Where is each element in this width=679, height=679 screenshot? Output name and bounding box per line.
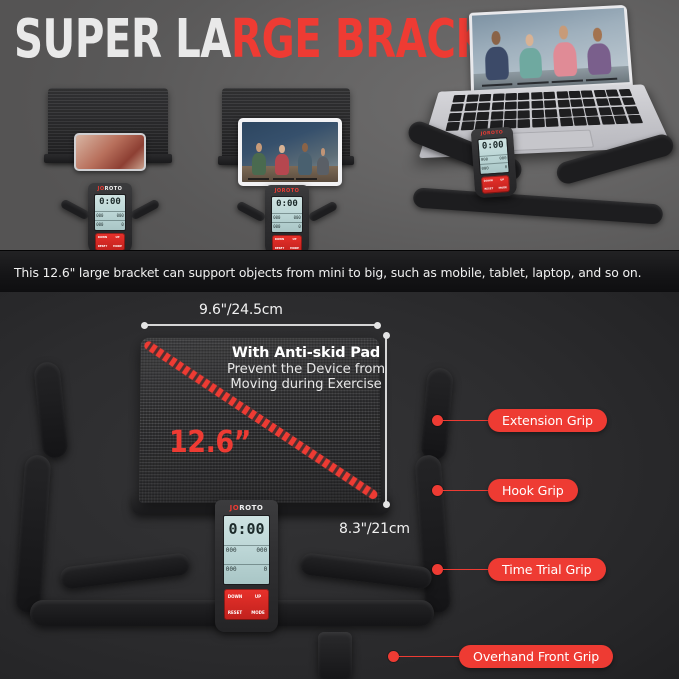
dimension-line-width xyxy=(145,324,377,326)
console-lcd: 0:00 000000 0000 xyxy=(94,194,126,231)
console-button-pad[interactable]: DOWN UP RESET MODE xyxy=(481,175,510,194)
callout-dot-icon xyxy=(432,564,443,575)
console-main: JOROTO 0:00 000000 0000 DOWN UP RESET MO… xyxy=(215,500,278,632)
callout-overhand-front-grip[interactable]: Overhand Front Grip xyxy=(388,645,613,668)
tablet-screen-content xyxy=(242,122,338,182)
btn-up[interactable]: UP xyxy=(287,238,302,241)
lcd-small-row1: 000000 xyxy=(96,213,124,218)
logo-jo-main: JO xyxy=(230,504,240,512)
callout-hook-grip[interactable]: Hook Grip xyxy=(432,479,578,502)
bike-stem xyxy=(318,632,352,679)
console-logo: JOROTO xyxy=(88,186,132,192)
lcd-main-value: 0:00 xyxy=(479,140,508,152)
pad-sub-line2: Moving during Exercise xyxy=(226,378,386,393)
panel-laptop: JOROTO 0:00 000000 0000 DOWN UP RESET MO… xyxy=(395,0,679,256)
callout-label-overhand-front-grip[interactable]: Overhand Front Grip xyxy=(459,645,613,668)
logo-jo: JO xyxy=(98,186,105,192)
device-phone xyxy=(74,133,146,171)
console-button-pad-main[interactable]: DOWN UP RESET MODE xyxy=(224,589,269,620)
lcd-small-row1: 000000 xyxy=(273,215,301,220)
console-tablet-panel: JOROTO 0:00 000000 0000 DOWN UP RESET MO… xyxy=(265,185,309,256)
console-laptop-panel: JOROTO 0:00 000000 0000 DOWN UP RESET MO… xyxy=(471,127,518,199)
handlebar-cross-laptop xyxy=(413,187,664,224)
console-phone-panel: JOROTO 0:00 000000 0000 DOWN UP RESET MO… xyxy=(88,183,132,254)
lcd-small-row1: 000000 xyxy=(226,547,267,554)
callout-connector-line xyxy=(399,656,459,658)
logo-text: JOROTO xyxy=(275,188,300,194)
console-button-pad[interactable]: DOWN UP RESET MODE xyxy=(95,233,125,251)
btn-down[interactable]: DOWN xyxy=(272,238,287,241)
pad-heading: With Anti-skid Pad xyxy=(226,345,386,361)
callout-dot-icon xyxy=(388,651,399,662)
dimension-label-width: 9.6"/24.5cm xyxy=(199,302,283,318)
console-logo: JOROTO xyxy=(471,130,513,138)
handlebar-left-tablet xyxy=(236,200,267,222)
handlebar-left-phone xyxy=(60,198,91,220)
console-logo-main: JOROTO xyxy=(215,504,278,512)
product-infographic: SUPER LARGE BRACKET JOROTO 0:00 000000 0… xyxy=(0,0,679,679)
lcd-main-value: 0:00 xyxy=(224,520,269,538)
handlebar-right-phone xyxy=(130,198,161,220)
console-lcd: 0:00 000000 0000 xyxy=(477,137,509,175)
callout-label-time-trial-grip[interactable]: Time Trial Grip xyxy=(488,558,606,581)
callout-connector-line xyxy=(443,420,488,422)
btn-up[interactable]: UP xyxy=(110,236,125,239)
callout-connector-line xyxy=(443,490,488,492)
laptop-keys xyxy=(446,89,643,131)
console-lcd: 0:00 000000 0000 xyxy=(271,196,303,233)
banner-text: This 12.6" large bracket can support obj… xyxy=(14,265,641,280)
console-lcd-main: 0:00 000000 0000 xyxy=(223,515,270,585)
laptop-screen-content xyxy=(472,8,630,90)
lcd-main-value: 0:00 xyxy=(95,197,125,207)
lcd-main-value: 0:00 xyxy=(272,199,302,209)
btn-up[interactable]: UP xyxy=(495,178,509,182)
laptop-screen xyxy=(469,5,633,97)
callout-connector-line xyxy=(443,569,488,571)
callout-time-trial-grip[interactable]: Time Trial Grip xyxy=(432,558,606,581)
btn-mode-main[interactable]: MODE xyxy=(247,610,269,615)
anti-skid-pad-text: With Anti-skid Pad Prevent the Device fr… xyxy=(226,345,386,393)
btn-mode[interactable]: MODE xyxy=(110,245,125,248)
laptop-trackpad xyxy=(502,130,595,152)
device-tablet xyxy=(238,118,342,186)
logo-text: JOROTO xyxy=(480,130,503,137)
btn-down[interactable]: DOWN xyxy=(481,179,495,183)
dimension-dot-width-left xyxy=(141,322,148,329)
lcd-small-row2: 0000 xyxy=(273,224,301,229)
btn-down-main[interactable]: DOWN xyxy=(224,594,246,599)
top-section: SUPER LARGE BRACKET JOROTO 0:00 000000 0… xyxy=(0,0,679,256)
lcd-small-row1: 000000 xyxy=(481,155,507,162)
dimension-label-height: 8.3"/21cm xyxy=(339,521,410,537)
callout-dot-icon xyxy=(432,415,443,426)
dimension-dot-height-top xyxy=(383,332,390,339)
btn-reset[interactable]: RESET xyxy=(95,245,110,248)
lcd-small-row2: 0000 xyxy=(481,164,507,171)
console-logo: JOROTO xyxy=(265,188,309,194)
btn-reset[interactable]: RESET xyxy=(482,187,496,191)
callout-dot-icon xyxy=(432,485,443,496)
pad-sub-line1: Prevent the Device from xyxy=(226,363,386,378)
description-banner: This 12.6" large bracket can support obj… xyxy=(0,250,679,293)
callout-label-extension-grip[interactable]: Extension Grip xyxy=(488,409,607,432)
dimension-dot-width-right xyxy=(374,322,381,329)
btn-reset-main[interactable]: RESET xyxy=(224,610,246,615)
handlebar-right-tablet xyxy=(308,200,339,222)
dimension-dot-height-bottom xyxy=(383,501,390,508)
lcd-small-row2: 0000 xyxy=(226,566,267,573)
btn-mode[interactable]: MODE xyxy=(496,186,510,190)
logo-roto: ROTO xyxy=(105,186,123,192)
btn-up-main[interactable]: UP xyxy=(247,594,269,599)
diagonal-size-label: 12.6” xyxy=(169,425,251,460)
callout-extension-grip[interactable]: Extension Grip xyxy=(432,409,607,432)
btn-down[interactable]: DOWN xyxy=(95,236,110,239)
lcd-small-row2: 0000 xyxy=(96,222,124,227)
callout-label-hook-grip[interactable]: Hook Grip xyxy=(488,479,578,502)
logo-roto-main: ROTO xyxy=(239,504,263,512)
title-white-part: SUPER LA xyxy=(14,7,231,70)
